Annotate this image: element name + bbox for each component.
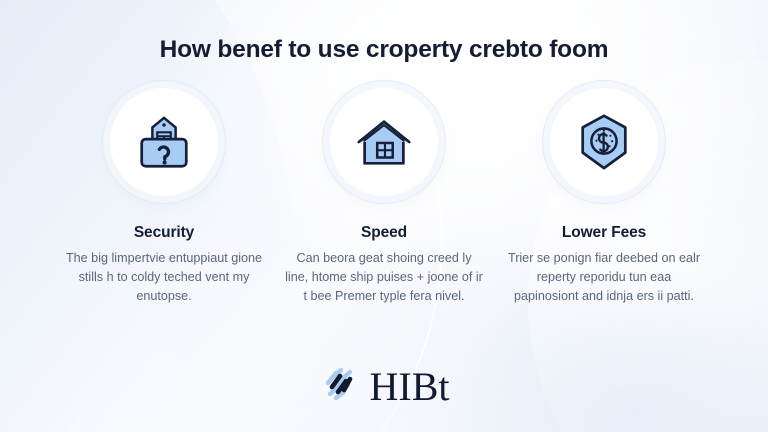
card-heading: Speed — [361, 224, 407, 242]
benefit-card-speed: Speed Can beora geat shoing creed ly lin… — [278, 88, 490, 306]
logo-wordmark: HIBt — [370, 367, 450, 407]
lock-question-icon — [133, 111, 195, 173]
benefit-cards-row: Security The big limpertvie entuppiaut g… — [58, 88, 710, 306]
house-icon — [353, 111, 415, 173]
diagonal-stripes-logo-mark — [319, 363, 361, 410]
card-heading: Security — [134, 224, 194, 242]
page-title: How benef to use croperty crebto foom — [0, 36, 768, 64]
brand-logo: HIBt — [0, 363, 768, 410]
benefit-card-lower-fees: Lower Fees Trier se ponign fiar deebed o… — [498, 88, 710, 306]
card-body-text: Trier se ponign fiar deebed on ealr repe… — [504, 249, 704, 306]
card-heading: Lower Fees — [562, 224, 646, 242]
infographic-content: How benef to use croperty crebto foom — [0, 0, 768, 432]
icon-badge-lower-fees — [550, 88, 658, 196]
icon-badge-speed — [330, 88, 438, 196]
infographic-canvas: How benef to use croperty crebto foom — [0, 0, 768, 432]
card-body-text: The big limpertvie entuppiaut gione stil… — [64, 249, 264, 306]
hexagon-coin-icon — [573, 111, 635, 173]
benefit-card-security: Security The big limpertvie entuppiaut g… — [58, 88, 270, 306]
card-body-text: Can beora geat shoing creed ly line, hto… — [284, 249, 484, 306]
icon-badge-security — [110, 88, 218, 196]
